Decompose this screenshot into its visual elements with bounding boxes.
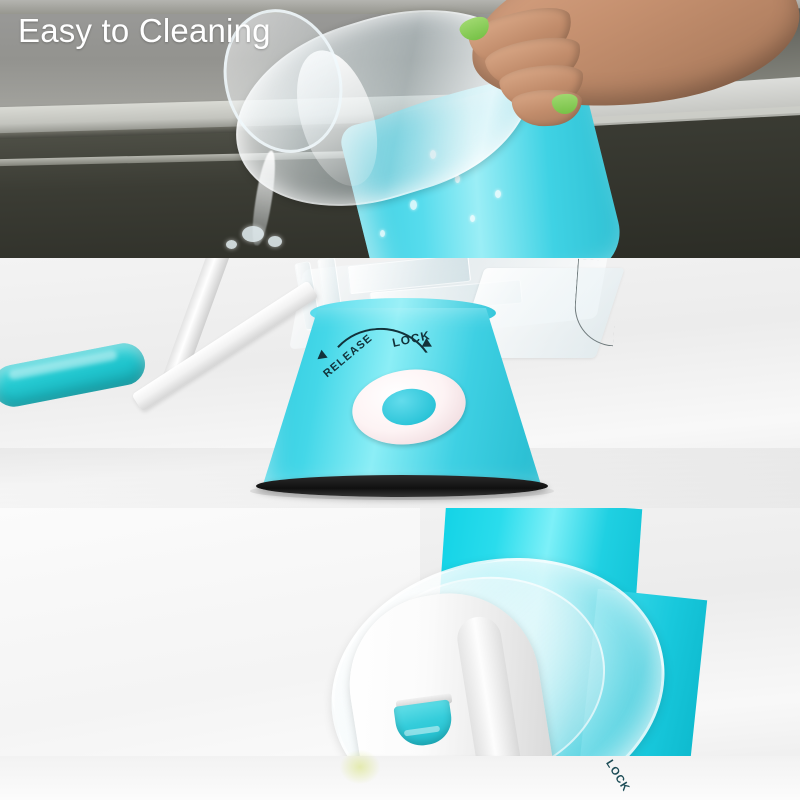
water-droplet — [410, 200, 417, 210]
silicone-sucker-ring — [256, 475, 548, 497]
panel-strong-silicone-sucker: RELEASE LOCK Strong Silicone sucker — [0, 258, 800, 508]
water-droplet — [495, 190, 501, 198]
water-splash — [226, 240, 237, 249]
water-droplet — [380, 230, 385, 237]
water-droplet — [470, 215, 475, 222]
panel-easy-to-cleaning: Easy to Cleaning — [0, 0, 800, 258]
water-splash — [268, 236, 282, 247]
water-splash — [242, 226, 264, 242]
product-feature-collage: Easy to Cleaning RELEASE LOCK Strong Sil… — [0, 0, 800, 800]
yellow-reflection — [340, 750, 380, 784]
table-surface — [0, 756, 800, 800]
panel-lock-button: Lock Button Easy to use — [0, 508, 800, 800]
caption-easy-to-cleaning: Easy to Cleaning — [18, 12, 271, 50]
